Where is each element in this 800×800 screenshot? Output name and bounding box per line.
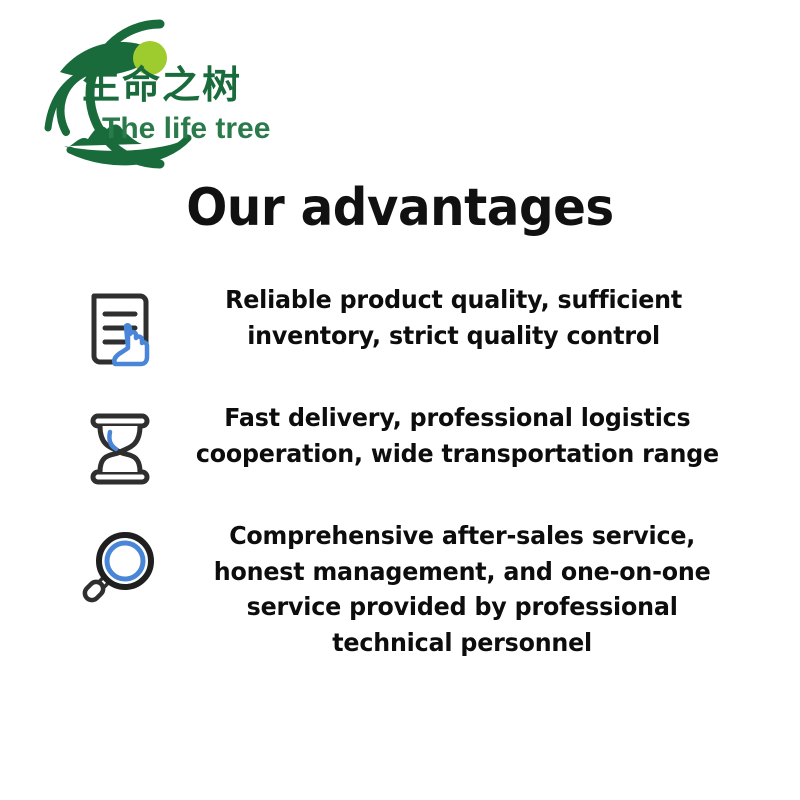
logo-english-name: The life tree xyxy=(102,114,270,144)
advantage-text: Fast delivery, professional logistics co… xyxy=(184,400,784,471)
advantage-item: Reliable product quality, sufficient inv… xyxy=(0,282,800,400)
brand-logo: 生命之树 The life tree xyxy=(8,10,298,170)
advantages-list: Reliable product quality, sufficient inv… xyxy=(0,282,800,688)
advantage-text: Reliable product quality, sufficient inv… xyxy=(184,282,784,353)
magnifier-icon xyxy=(72,518,168,606)
advantage-item: Fast delivery, professional logistics co… xyxy=(0,400,800,518)
document-click-icon xyxy=(72,282,168,368)
advantage-item: Comprehensive after-sales service, hones… xyxy=(0,518,800,688)
page-title: Our advantages xyxy=(28,182,772,234)
hourglass-icon xyxy=(72,400,168,488)
advantage-text: Comprehensive after-sales service, hones… xyxy=(184,518,784,660)
logo-chinese-name: 生命之树 xyxy=(82,66,242,104)
